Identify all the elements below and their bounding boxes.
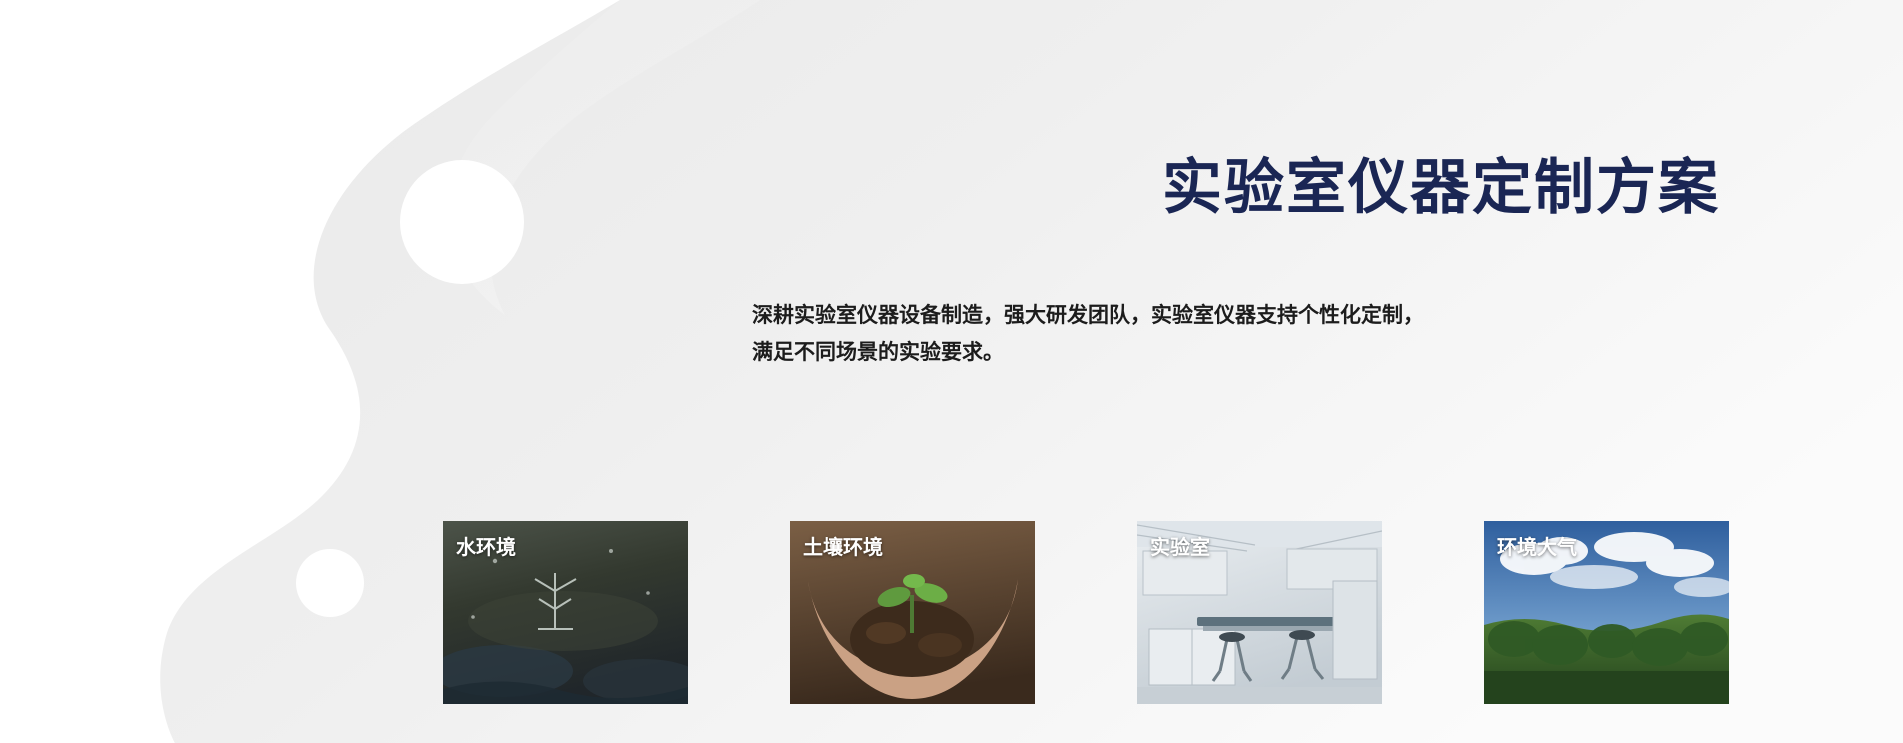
- thumbnail-label: 水环境: [456, 531, 516, 560]
- page-title: 实验室仪器定制方案: [990, 155, 1720, 221]
- hero-banner: 实验室仪器定制方案 深耕实验室仪器设备制造，强大研发团队，实验室仪器支持个性化定…: [0, 0, 1903, 743]
- thumbnail-label: 环境大气: [1497, 531, 1577, 560]
- thumbnail-card-water-environment[interactable]: 水环境: [443, 521, 688, 704]
- category-thumbnail-row: 水环境 土壤环境: [443, 521, 1723, 704]
- thumbnail-label: 土壤环境: [803, 531, 883, 560]
- banner-description-line-1: 深耕实验室仪器设备制造，强大研发团队，实验室仪器支持个性化定制，: [752, 298, 1722, 335]
- thumbnail-card-atmosphere-environment[interactable]: 环境大气: [1484, 521, 1729, 704]
- banner-description: 深耕实验室仪器设备制造，强大研发团队，实验室仪器支持个性化定制， 满足不同场景的…: [752, 298, 1722, 372]
- banner-description-line-2: 满足不同场景的实验要求。: [752, 335, 1722, 372]
- thumbnail-label: 实验室: [1150, 531, 1210, 560]
- thumbnail-card-laboratory[interactable]: 实验室: [1137, 521, 1382, 704]
- thumbnail-card-soil-environment[interactable]: 土壤环境: [790, 521, 1035, 704]
